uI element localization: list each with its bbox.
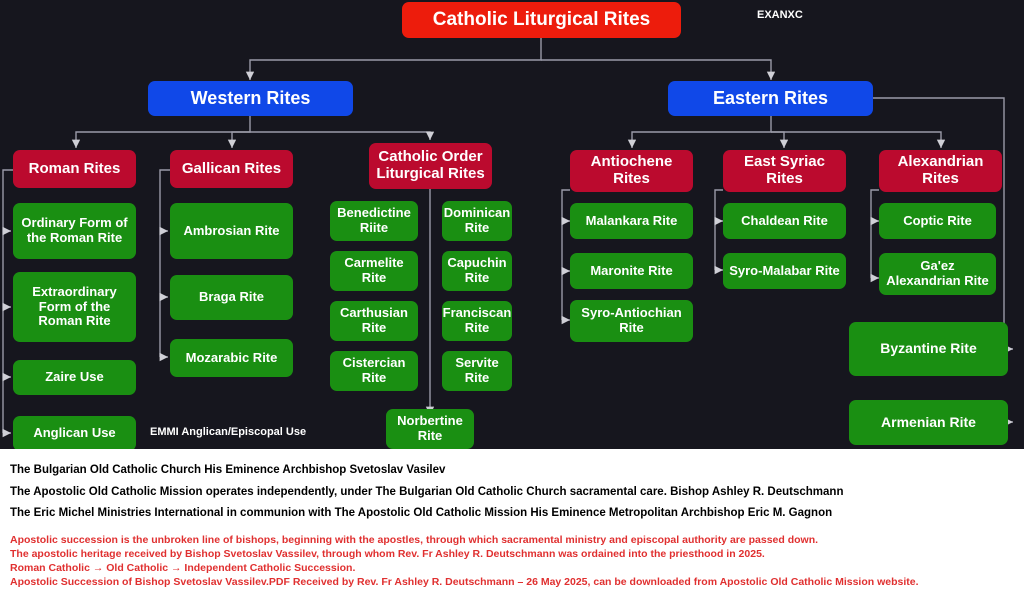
node-ambrosian-rite[interactable]: Ambrosian Rite xyxy=(170,203,293,259)
node-byzantine-rite[interactable]: Byzantine Rite xyxy=(849,322,1008,376)
notes-panel: The Bulgarian Old Catholic Church His Em… xyxy=(0,449,1024,593)
note-red-succession-definition: Apostolic succession is the unbroken lin… xyxy=(10,534,1018,548)
node-carmelite-rite[interactable]: Carmelite Rite xyxy=(330,251,418,291)
note-red-lineage-chain: Roman Catholic → Old Catholic → Independ… xyxy=(10,562,1018,576)
node-malankara-rite[interactable]: Malankara Rite xyxy=(570,203,693,239)
note-line-eric-michel-ministries: The Eric Michel Ministries International… xyxy=(10,498,1018,520)
node-mozarabic-rite[interactable]: Mozarabic Rite xyxy=(170,339,293,377)
annotation-emmi-anglican-episcopal-use: EMMI Anglican/Episcopal Use xyxy=(150,426,306,438)
node-armenian-rite[interactable]: Armenian Rite xyxy=(849,400,1008,445)
node-western-rites[interactable]: Western Rites xyxy=(148,81,353,116)
node-carthusian-rite[interactable]: Carthusian Rite xyxy=(330,301,418,341)
node-norbertine-rite[interactable]: Norbertine Rite xyxy=(386,409,474,449)
node-zaire-use[interactable]: Zaire Use xyxy=(13,360,136,395)
node-east-syriac-rites[interactable]: East Syriac Rites xyxy=(723,150,846,192)
corner-label-exanxc: EXANXC xyxy=(757,9,803,21)
node-chaldean-rite[interactable]: Chaldean Rite xyxy=(723,203,846,239)
node-capuchin-rite[interactable]: Capuchin Rite xyxy=(442,251,512,291)
node-maronite-rite[interactable]: Maronite Rite xyxy=(570,253,693,289)
connector-lines xyxy=(0,0,1024,449)
node-franciscan-rite[interactable]: Franciscan Rite xyxy=(442,301,512,341)
node-braga-rite[interactable]: Braga Rite xyxy=(170,275,293,320)
node-anglican-use[interactable]: Anglican Use xyxy=(13,416,136,449)
note-line-bulgarian-church: The Bulgarian Old Catholic Church His Em… xyxy=(10,455,1018,477)
node-servite-rite[interactable]: Servite Rite xyxy=(442,351,512,391)
note-red-pdf-download: Apostolic Succession of Bishop Svetoslav… xyxy=(10,576,1018,590)
node-catholic-liturgical-rites[interactable]: Catholic Liturgical Rites xyxy=(402,2,681,38)
node-benedictine-rite[interactable]: Benedictine Riite xyxy=(330,201,418,241)
node-cistercian-rite[interactable]: Cistercian Rite xyxy=(330,351,418,391)
node-antiochene-rites[interactable]: Antiochene Rites xyxy=(570,150,693,192)
node-gaez-alexandrian-rite[interactable]: Ga'ez Alexandrian Rite xyxy=(879,253,996,295)
node-catholic-order-liturgical-rites[interactable]: Catholic Order Liturgical Rites xyxy=(369,143,492,189)
org-chart-canvas: Catholic Liturgical Rites EXANXC Western… xyxy=(0,0,1024,449)
node-roman-rites[interactable]: Roman Rites xyxy=(13,150,136,188)
node-gallican-rites[interactable]: Gallican Rites xyxy=(170,150,293,188)
node-alexandrian-rites[interactable]: Alexandrian Rites xyxy=(879,150,1002,192)
node-dominican-rite[interactable]: Dominican Rite xyxy=(442,201,512,241)
note-red-heritage: The apostolic heritage received by Bisho… xyxy=(10,548,1018,562)
node-coptic-rite[interactable]: Coptic Rite xyxy=(879,203,996,239)
node-extraordinary-form-roman-rite[interactable]: Extraordinary Form of the Roman Rite xyxy=(13,272,136,342)
node-syro-malabar-rite[interactable]: Syro-Malabar Rite xyxy=(723,253,846,289)
apostolic-succession-notes: Apostolic succession is the unbroken lin… xyxy=(6,534,1018,590)
note-line-apostolic-mission: The Apostolic Old Catholic Mission opera… xyxy=(10,477,1018,499)
node-ordinary-form-roman-rite[interactable]: Ordinary Form of the Roman Rite xyxy=(13,203,136,259)
node-syro-antiochian-rite[interactable]: Syro-Antiochian Rite xyxy=(570,300,693,342)
node-eastern-rites[interactable]: Eastern Rites xyxy=(668,81,873,116)
